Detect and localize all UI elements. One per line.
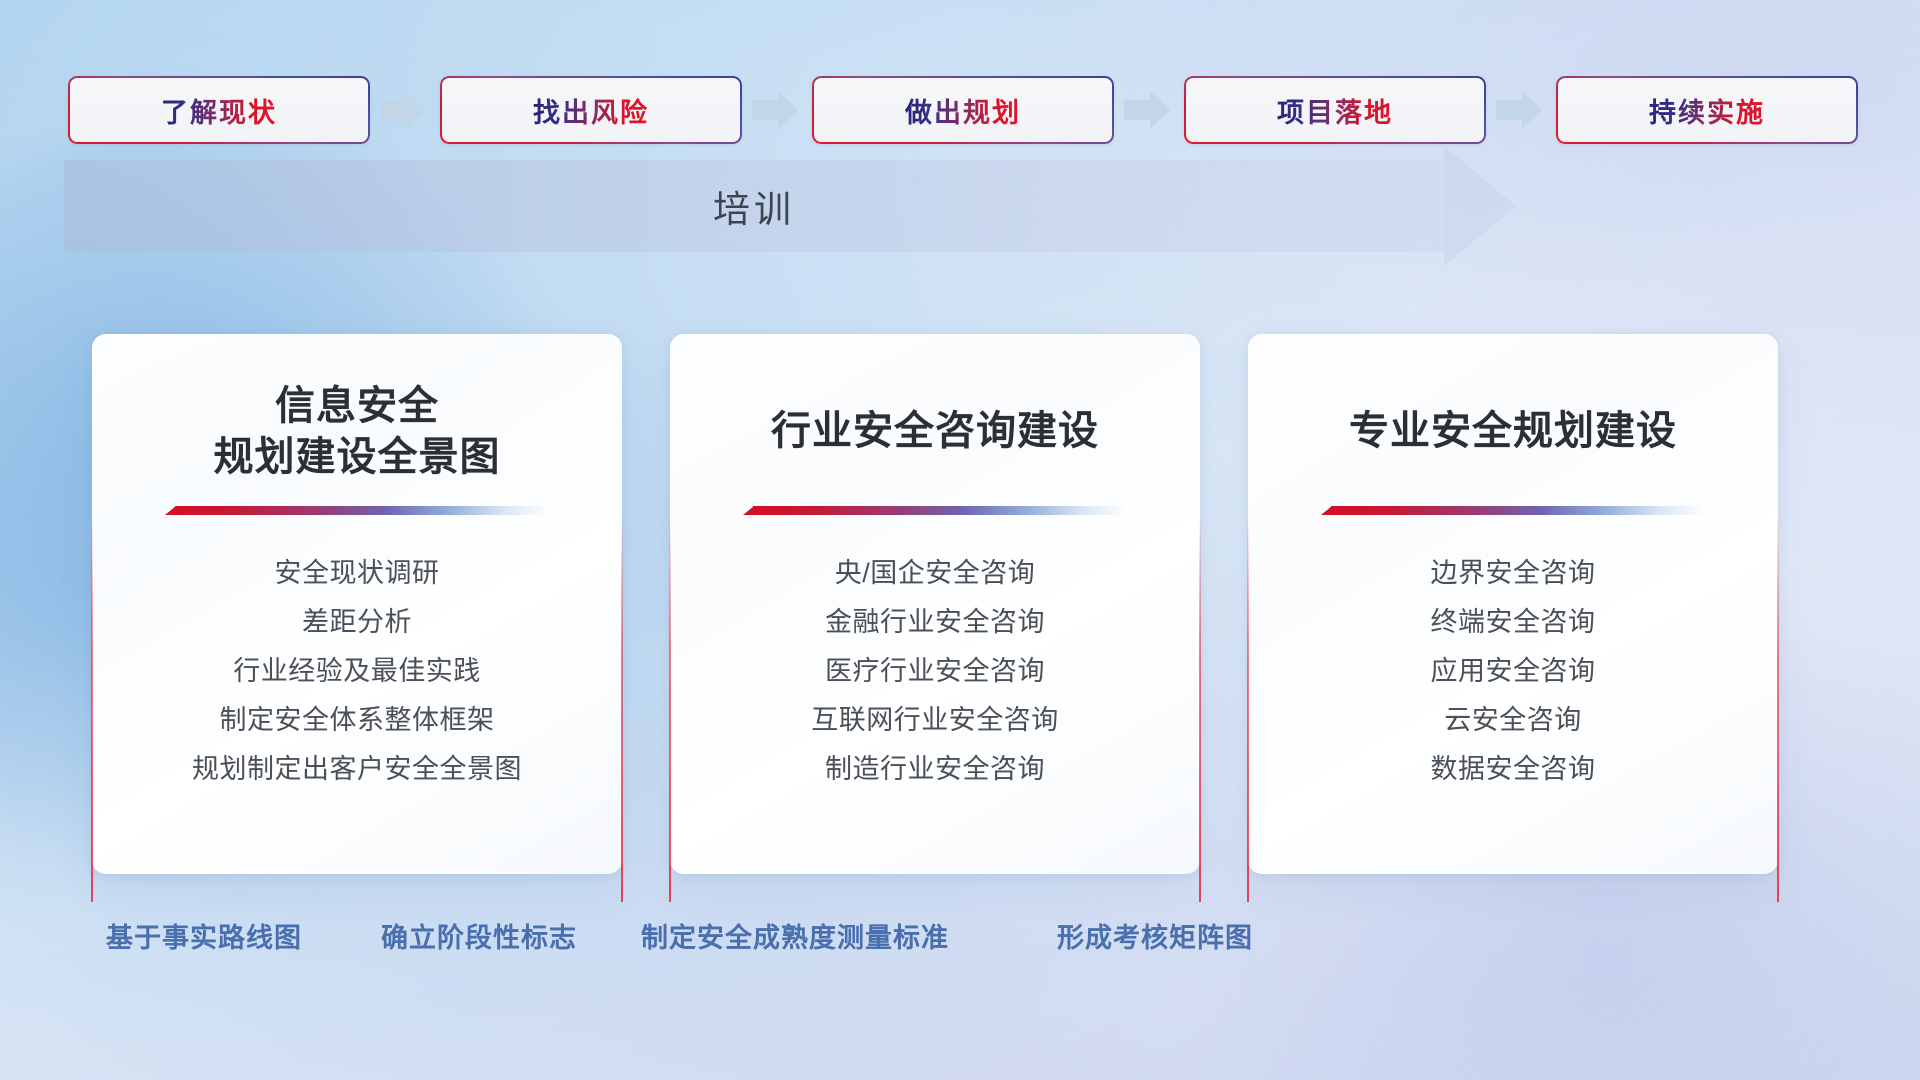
right-arrow-icon [370, 87, 440, 133]
list-item: 央/国企安全咨询 [704, 549, 1166, 598]
card-divider [165, 506, 549, 515]
list-item: 终端安全咨询 [1282, 598, 1744, 647]
step-chip-5[interactable]: 持续实施 [1556, 76, 1858, 144]
footnote-label: 基于事实路线图 [106, 916, 302, 955]
feature-cards: 信息安全 规划建设全景图 安全现状调研 差距分析 行业经验及最佳实践 制定安全体… [92, 334, 1832, 874]
card-edge-accent-left [1247, 514, 1249, 902]
list-item: 互联网行业安全咨询 [704, 696, 1166, 745]
list-item: 制造行业安全咨询 [704, 745, 1166, 794]
step-label: 了解现状 [161, 91, 277, 130]
list-item: 安全现状调研 [126, 549, 588, 598]
right-arrow-icon [1114, 87, 1184, 133]
card-item-list: 边界安全咨询 终端安全咨询 应用安全咨询 云安全咨询 数据安全咨询 [1282, 549, 1744, 794]
step-chip-1[interactable]: 了解现状 [68, 76, 370, 144]
card-item-list: 安全现状调研 差距分析 行业经验及最佳实践 制定安全体系整体框架 规划制定出客户… [126, 549, 588, 794]
banner-arrow-icon [1444, 146, 1516, 266]
list-item: 云安全咨询 [1282, 696, 1744, 745]
list-item: 制定安全体系整体框架 [126, 696, 588, 745]
list-item: 医疗行业安全咨询 [704, 647, 1166, 696]
right-arrow-icon [742, 87, 812, 133]
list-item: 金融行业安全咨询 [704, 598, 1166, 647]
step-label: 持续实施 [1649, 91, 1765, 130]
list-item: 边界安全咨询 [1282, 549, 1744, 598]
training-banner: 培训 [64, 160, 1516, 252]
card-title: 专业安全规划建设 [1349, 380, 1677, 484]
step-label: 项目落地 [1277, 91, 1393, 130]
step-chip-2[interactable]: 找出风险 [440, 76, 742, 144]
card-edge-accent-right [621, 514, 623, 902]
footnote-label: 确立阶段性标志 [381, 916, 577, 955]
list-item: 数据安全咨询 [1282, 745, 1744, 794]
feature-card-3[interactable]: 专业安全规划建设 边界安全咨询 终端安全咨询 应用安全咨询 云安全咨询 数据安全… [1248, 334, 1778, 874]
banner-label: 培训 [64, 160, 1444, 252]
card-edge-accent-left [669, 514, 671, 902]
card-title: 行业安全咨询建设 [771, 380, 1099, 484]
footnote-row: 基于事实路线图 确立阶段性标志 制定安全成熟度测量标准 形成考核矩阵图 [0, 916, 1920, 964]
list-item: 差距分析 [126, 598, 588, 647]
card-edge-accent-right [1777, 514, 1779, 902]
card-title: 信息安全 规划建设全景图 [214, 380, 501, 484]
footnote-label: 制定安全成熟度测量标准 [641, 916, 949, 955]
footnote-label: 形成考核矩阵图 [1057, 916, 1253, 955]
step-label: 做出规划 [905, 91, 1021, 130]
card-title-line: 规划建设全景图 [214, 432, 501, 483]
card-title-line: 专业安全规划建设 [1349, 406, 1677, 457]
card-edge-accent-right [1199, 514, 1201, 902]
step-label: 找出风险 [533, 91, 649, 130]
card-item-list: 央/国企安全咨询 金融行业安全咨询 医疗行业安全咨询 互联网行业安全咨询 制造行… [704, 549, 1166, 794]
feature-card-2[interactable]: 行业安全咨询建设 央/国企安全咨询 金融行业安全咨询 医疗行业安全咨询 互联网行… [670, 334, 1200, 874]
feature-card-1[interactable]: 信息安全 规划建设全景图 安全现状调研 差距分析 行业经验及最佳实践 制定安全体… [92, 334, 622, 874]
card-title-line: 行业安全咨询建设 [771, 406, 1099, 457]
list-item: 规划制定出客户安全全景图 [126, 745, 588, 794]
card-divider [1321, 506, 1705, 515]
slide-canvas: 了解现状 找出风险 做出规划 项目落地 持续实施 培训 [0, 0, 1920, 1080]
list-item: 应用安全咨询 [1282, 647, 1744, 696]
card-divider [743, 506, 1127, 515]
step-chip-4[interactable]: 项目落地 [1184, 76, 1486, 144]
step-chip-3[interactable]: 做出规划 [812, 76, 1114, 144]
list-item: 行业经验及最佳实践 [126, 647, 588, 696]
card-title-line: 信息安全 [214, 381, 501, 432]
process-steps: 了解现状 找出风险 做出规划 项目落地 持续实施 [68, 76, 1858, 144]
card-edge-accent-left [91, 514, 93, 902]
right-arrow-icon [1486, 87, 1556, 133]
